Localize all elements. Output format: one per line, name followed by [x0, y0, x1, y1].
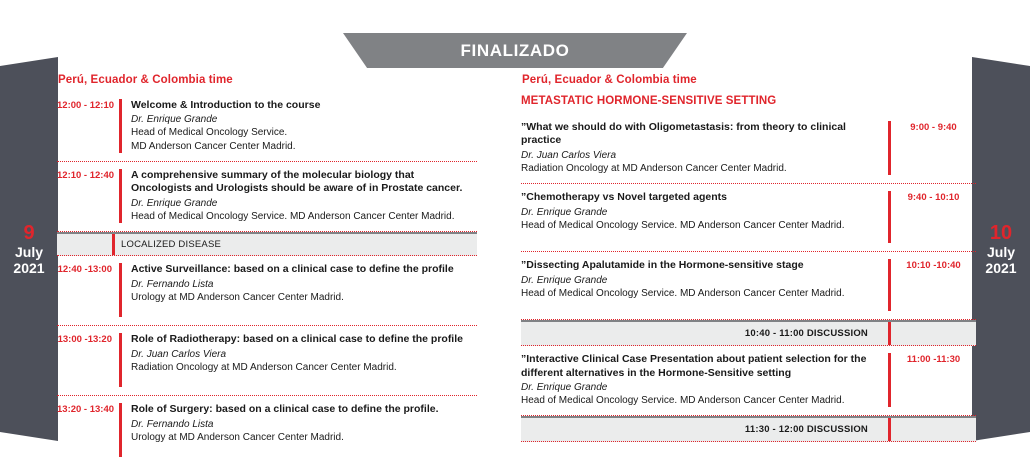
timezone-heading: Perú, Ecuador & Colombia time — [521, 74, 976, 86]
session-affiliation: Head of Medical Oncology Service. MD And… — [131, 210, 477, 223]
session-speaker: Dr. Enrique Grande — [131, 113, 477, 126]
session-title: Role of Surgery: based on a clinical cas… — [131, 403, 477, 416]
status-ribbon: FINALIZADO — [343, 33, 687, 68]
session-time: 12:00 - 12:10 — [57, 99, 119, 111]
session-body: Active Surveillance: based on a clinical… — [119, 263, 477, 317]
session-body: A comprehensive summary of the molecular… — [119, 169, 477, 223]
session-speaker: Dr. Enrique Grande — [521, 381, 878, 394]
date-tab-july-10: 10 July 2021 — [972, 57, 1030, 441]
session-title: ”Chemotherapy vs Novel targeted agents — [521, 191, 878, 204]
agenda-column-day-1: Perú, Ecuador & Colombia time 12:00 - 12… — [57, 74, 477, 465]
date-day: 10 — [990, 222, 1012, 244]
discussion-label: 11:30 - 12:00 DISCUSSION — [745, 424, 976, 435]
red-spine — [888, 418, 891, 441]
session-time: 13:00 -13:20 — [57, 333, 119, 345]
date-year: 2021 — [13, 261, 44, 277]
session-speaker: Dr. Fernando Lista — [131, 278, 477, 291]
discussion-bar: 11:30 - 12:00 DISCUSSION — [521, 416, 976, 442]
red-spine — [112, 234, 115, 255]
session-body: ”What we should do with Oligometastasis:… — [521, 121, 888, 175]
agenda-row[interactable]: 13:20 - 13:40 Role of Surgery: based on … — [57, 396, 477, 465]
section-header-label: LOCALIZED DISEASE — [57, 239, 221, 250]
session-affiliation: Head of Medical Oncology Service. — [131, 126, 477, 139]
session-speaker: Dr. Enrique Grande — [521, 206, 878, 219]
agenda-row[interactable]: ”Chemotherapy vs Novel targeted agents D… — [521, 184, 976, 252]
session-body: ”Dissecting Apalutamide in the Hormone-s… — [521, 259, 888, 311]
session-speaker: Dr. Fernando Lista — [131, 418, 477, 431]
agenda-row[interactable]: 13:00 -13:20 Role of Radiotherapy: based… — [57, 326, 477, 396]
session-affiliation: Urology at MD Anderson Cancer Center Mad… — [131, 291, 477, 304]
session-time: 13:20 - 13:40 — [57, 403, 119, 415]
session-body: ”Interactive Clinical Case Presentation … — [521, 353, 888, 407]
date-tab-july-9: 9 July 2021 — [0, 57, 58, 441]
setting-heading: METASTATIC HORMONE-SENSITIVE SETTING — [521, 95, 976, 107]
session-title: Active Surveillance: based on a clinical… — [131, 263, 477, 276]
discussion-label: 10:40 - 11:00 DISCUSSION — [745, 328, 976, 339]
session-time: 11:00 -11:30 — [888, 353, 976, 407]
session-time: 9:40 - 10:10 — [888, 191, 976, 243]
session-title: Role of Radiotherapy: based on a clinica… — [131, 333, 477, 346]
agenda-row[interactable]: ”Dissecting Apalutamide in the Hormone-s… — [521, 252, 976, 320]
session-time: 12:10 - 12:40 — [57, 169, 119, 181]
session-title: ”Interactive Clinical Case Presentation … — [521, 353, 878, 380]
session-speaker: Dr. Enrique Grande — [521, 274, 878, 287]
session-title: ”What we should do with Oligometastasis:… — [521, 121, 878, 148]
session-title: ”Dissecting Apalutamide in the Hormone-s… — [521, 259, 878, 272]
date-month: July — [15, 245, 43, 261]
session-speaker: Dr. Juan Carlos Viera — [131, 348, 477, 361]
session-body: ”Chemotherapy vs Novel targeted agents D… — [521, 191, 888, 243]
session-title: Welcome & Introduction to the course — [131, 99, 477, 112]
session-speaker: Dr. Juan Carlos Viera — [521, 149, 878, 162]
date-year: 2021 — [985, 261, 1016, 277]
session-affiliation: Head of Medical Oncology Service. MD And… — [521, 287, 878, 300]
status-label: FINALIZADO — [461, 41, 570, 61]
session-time: 12:40 -13:00 — [57, 263, 119, 275]
agenda-row[interactable]: ”What we should do with Oligometastasis:… — [521, 114, 976, 184]
date-day: 9 — [23, 222, 34, 244]
session-affiliation: Head of Medical Oncology Service. MD And… — [521, 219, 878, 232]
session-body: Role of Surgery: based on a clinical cas… — [119, 403, 477, 457]
agenda-row[interactable]: ”Interactive Clinical Case Presentation … — [521, 346, 976, 416]
session-speaker: Dr. Enrique Grande — [131, 197, 477, 210]
section-header-localized-disease: LOCALIZED DISEASE — [57, 232, 477, 256]
timezone-heading: Perú, Ecuador & Colombia time — [57, 74, 477, 86]
discussion-bar: 10:40 - 11:00 DISCUSSION — [521, 320, 976, 346]
agenda-row[interactable]: 12:00 - 12:10 Welcome & Introduction to … — [57, 92, 477, 162]
session-body: Role of Radiotherapy: based on a clinica… — [119, 333, 477, 387]
session-time: 10:10 -10:40 — [888, 259, 976, 311]
session-time: 9:00 - 9:40 — [888, 121, 976, 175]
session-affiliation: Urology at MD Anderson Cancer Center Mad… — [131, 431, 477, 444]
session-affiliation: Radiation Oncology at MD Anderson Cancer… — [521, 162, 878, 175]
session-affiliation: Radiation Oncology at MD Anderson Cancer… — [131, 361, 477, 374]
date-month: July — [987, 245, 1015, 261]
session-affiliation: Head of Medical Oncology Service. MD And… — [521, 394, 878, 407]
session-affiliation: MD Anderson Cancer Center Madrid. — [131, 140, 477, 153]
agenda-column-day-2: Perú, Ecuador & Colombia time METASTATIC… — [521, 74, 976, 442]
session-title: A comprehensive summary of the molecular… — [131, 169, 477, 196]
agenda-row[interactable]: 12:40 -13:00 Active Surveillance: based … — [57, 256, 477, 326]
red-spine — [888, 322, 891, 345]
agenda-row[interactable]: 12:10 - 12:40 A comprehensive summary of… — [57, 162, 477, 232]
session-body: Welcome & Introduction to the course Dr.… — [119, 99, 477, 153]
